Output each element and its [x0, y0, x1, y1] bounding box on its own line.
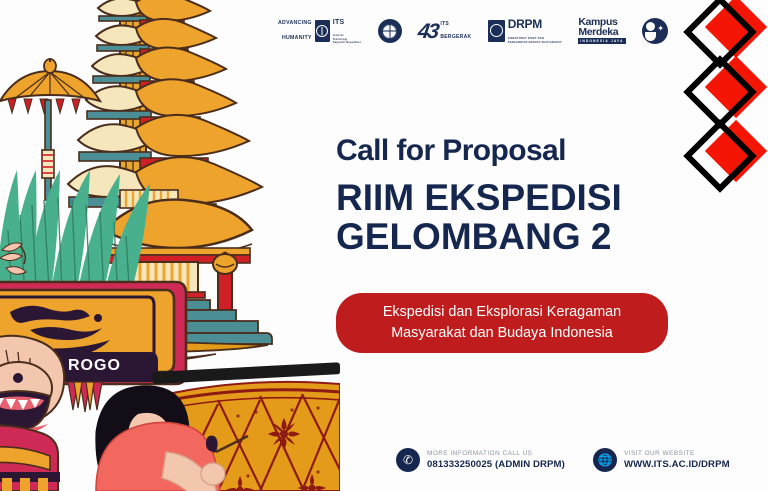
diamond-3 [684, 122, 768, 184]
logo-drpm: DRPM DIREKTORAT RISET DAN PENGABDIAN KEP… [488, 11, 562, 51]
logo-advancing-humanity-its: ADVANCING HUMANITY ITS Institut Teknolog… [278, 11, 361, 52]
phone-icon: ✆ [396, 448, 420, 472]
its-bergerak-mark-icon: 43 [417, 21, 439, 42]
its-bergerak-line2: BERGERAK [440, 34, 471, 41]
world-class-seal-icon [378, 19, 402, 43]
footer-website-value: WWW.ITS.AC.ID/DRPM [624, 459, 730, 471]
footer-phone-item[interactable]: ✆ MORE INFORMATION CALL US 081333250025 … [396, 448, 565, 472]
logo-kampus-merdeka: Kampus Merdeka INDONESIA JAYA [578, 18, 625, 45]
kampus-merdeka-line2: Merdeka [578, 28, 625, 38]
poster-canvas: ROGO [0, 0, 768, 491]
advancing-humanity-line1: ADVANCING [278, 20, 312, 27]
diamond-2 [684, 58, 768, 120]
its-bergerak-line1: ITS [440, 21, 471, 28]
balinese-temple-batik-illustration: ROGO [0, 0, 340, 491]
diamond-1 [684, 0, 768, 60]
drpm-subtitle: DIREKTORAT RISET DAN PENGABDIAN KEPADA M… [508, 37, 562, 44]
logo-its-world-class-seal [378, 19, 402, 43]
headline-kicker: Call for Proposal [336, 136, 676, 166]
logo-kemdikbud: ✦ [642, 18, 668, 44]
drpm-wordmark: DRPM [508, 18, 562, 30]
kampus-merdeka-bar: INDONESIA JAYA [578, 38, 625, 44]
footer-website-item[interactable]: 🌐 VISIT OUR WEBSITE WWW.ITS.AC.ID/DRPM [593, 448, 730, 472]
footer-phone-value: 081333250025 (ADMIN DRPM) [427, 459, 565, 471]
headline-title: RIIM EKSPEDISI GELOMBANG 2 [336, 178, 676, 256]
its-subtitle: Institut Teknologi Sepuluh Nopember [333, 34, 362, 44]
its-crest-icon [315, 20, 330, 42]
kemdikbud-icon: ✦ [642, 18, 668, 44]
footer-phone-label: MORE INFORMATION CALL US [427, 449, 565, 459]
logo-its-bergerak: 43 ITS BERGERAK [418, 14, 471, 48]
its-wordmark: ITS [333, 18, 362, 27]
diamond-decoration-group [684, 0, 768, 190]
contact-footer: ✆ MORE INFORMATION CALL US 081333250025 … [396, 448, 730, 472]
subtitle-badge: Ekspedisi dan Eksplorasi Keragaman Masya… [336, 293, 668, 353]
globe-icon: 🌐 [593, 448, 617, 472]
partner-logo-bar: ADVANCING HUMANITY ITS Institut Teknolog… [278, 10, 668, 52]
svg-text:ROGO: ROGO [68, 357, 121, 374]
advancing-humanity-line2: HUMANITY [278, 35, 312, 42]
footer-website-label: VISIT OUR WEBSITE [624, 449, 730, 459]
headline-block: Call for Proposal RIIM EKSPEDISI GELOMBA… [336, 136, 676, 256]
drpm-seal-icon [488, 20, 505, 42]
